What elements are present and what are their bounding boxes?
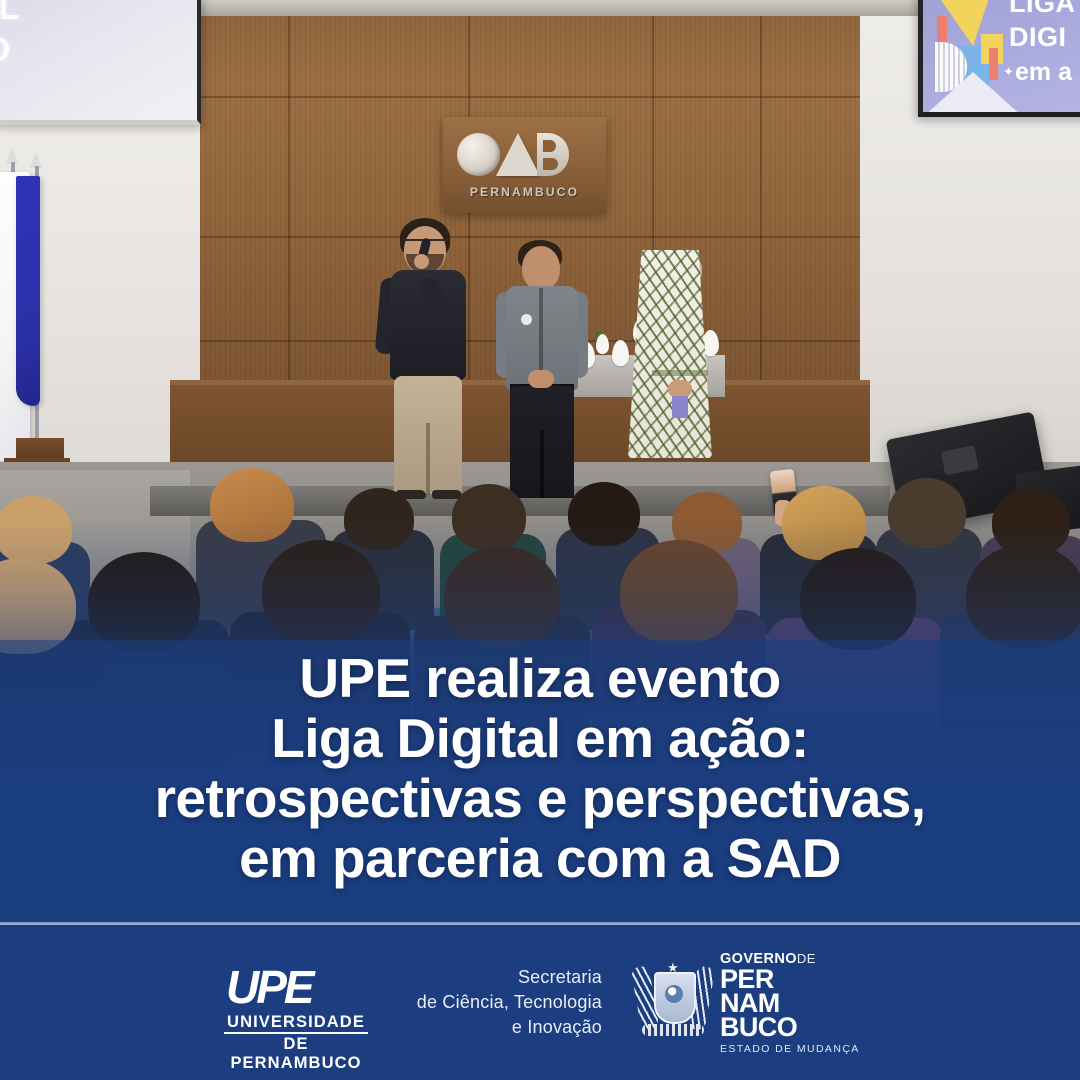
upe-logo: UPE UNIVERSIDADE DE PERNAMBUCO [220, 957, 372, 1049]
left-screen-line2: O [0, 32, 10, 68]
clasped-hands [528, 370, 554, 388]
upe-logo-rule [224, 1032, 368, 1034]
trouser-seam [540, 430, 544, 498]
left-projection-screen: AL O [0, 0, 201, 125]
footer-logo-bar: UPE UNIVERSIDADE DE PERNAMBUCO Secretari… [0, 925, 1080, 1080]
dress-belt [652, 370, 708, 376]
monitor-mount-plate [941, 445, 979, 475]
oab-plaque-subtitle: PERNAMBUCO [443, 185, 606, 199]
calla-lily [612, 340, 629, 366]
crest-ribbon [642, 1024, 704, 1036]
governo-pernambuco-logo: ★ GOVERNODE PER NAM BUCO ESTADO DE MUDAN… [636, 951, 860, 1055]
right-projection-screen: LIGA DIGI ✦ em a [918, 0, 1080, 117]
crest-shield [654, 972, 696, 1024]
governo-tagline: ESTADO DE MUDANÇA [720, 1043, 860, 1055]
upe-logo-line2: DE PERNAMBUCO [220, 1035, 372, 1073]
governo-big-line3: BUCO [720, 1015, 860, 1039]
governo-top-light: DE [797, 951, 816, 966]
upe-logo-line1: UNIVERSIDADE [220, 1013, 372, 1032]
governo-big-line1: PER [720, 967, 860, 991]
left-screen-line1: AL [0, 0, 19, 26]
flag-stand-upper [16, 438, 64, 460]
social-media-poster: PERNAMBUCO AL O LIGA DIGI ✦ em a [0, 0, 1080, 1080]
trouser-seam [426, 423, 430, 495]
oab-letter-o-icon [457, 133, 500, 176]
oab-wall-plaque: PERNAMBUCO [443, 117, 606, 213]
headline-line-1: UPE realiza evento [0, 648, 1080, 708]
secretaria-logo-text: Secretaria de Ciência, Tecnologia e Inov… [406, 965, 602, 1040]
speaker-grey-shirt [492, 240, 602, 502]
right-screen-line1: LIGA [1009, 0, 1076, 19]
sparkle-icon: ✦ [1003, 64, 1014, 80]
headline-text: UPE realiza evento Liga Digital em ação:… [0, 648, 1080, 888]
hand [414, 254, 429, 269]
head [522, 246, 560, 290]
right-screen-line3: em a [1015, 58, 1072, 87]
held-card [672, 396, 688, 418]
oab-letter-a-icon [496, 133, 540, 176]
secretaria-line2: de Ciência, Tecnologia [406, 990, 602, 1015]
upe-wordmark: UPE [226, 963, 366, 1011]
pernambuco-coat-of-arms-icon: ★ [636, 960, 710, 1046]
secretaria-line3: e Inovação [406, 1015, 602, 1040]
leaf-print-dress [628, 250, 712, 458]
oab-letter-b-icon [537, 133, 569, 176]
headline-line-4: em parceria com a SAD [0, 828, 1080, 888]
lapel-badge-icon [521, 314, 532, 325]
headline-line-2: Liga Digital em ação: [0, 708, 1080, 768]
headline-line-3: retrospectivas e perspectivas, [0, 768, 1080, 828]
governo-big-line2: NAM [720, 991, 860, 1015]
speaker-floral-dress [628, 250, 738, 508]
blue-flag [16, 176, 40, 406]
right-screen-line2: DIGI [1009, 22, 1067, 53]
governo-wordmark: GOVERNODE PER NAM BUCO ESTADO DE MUDANÇA [720, 951, 860, 1055]
speaker-with-microphone [372, 218, 492, 503]
oab-logo-letters [457, 133, 569, 176]
secretaria-line1: Secretaria [406, 965, 602, 990]
